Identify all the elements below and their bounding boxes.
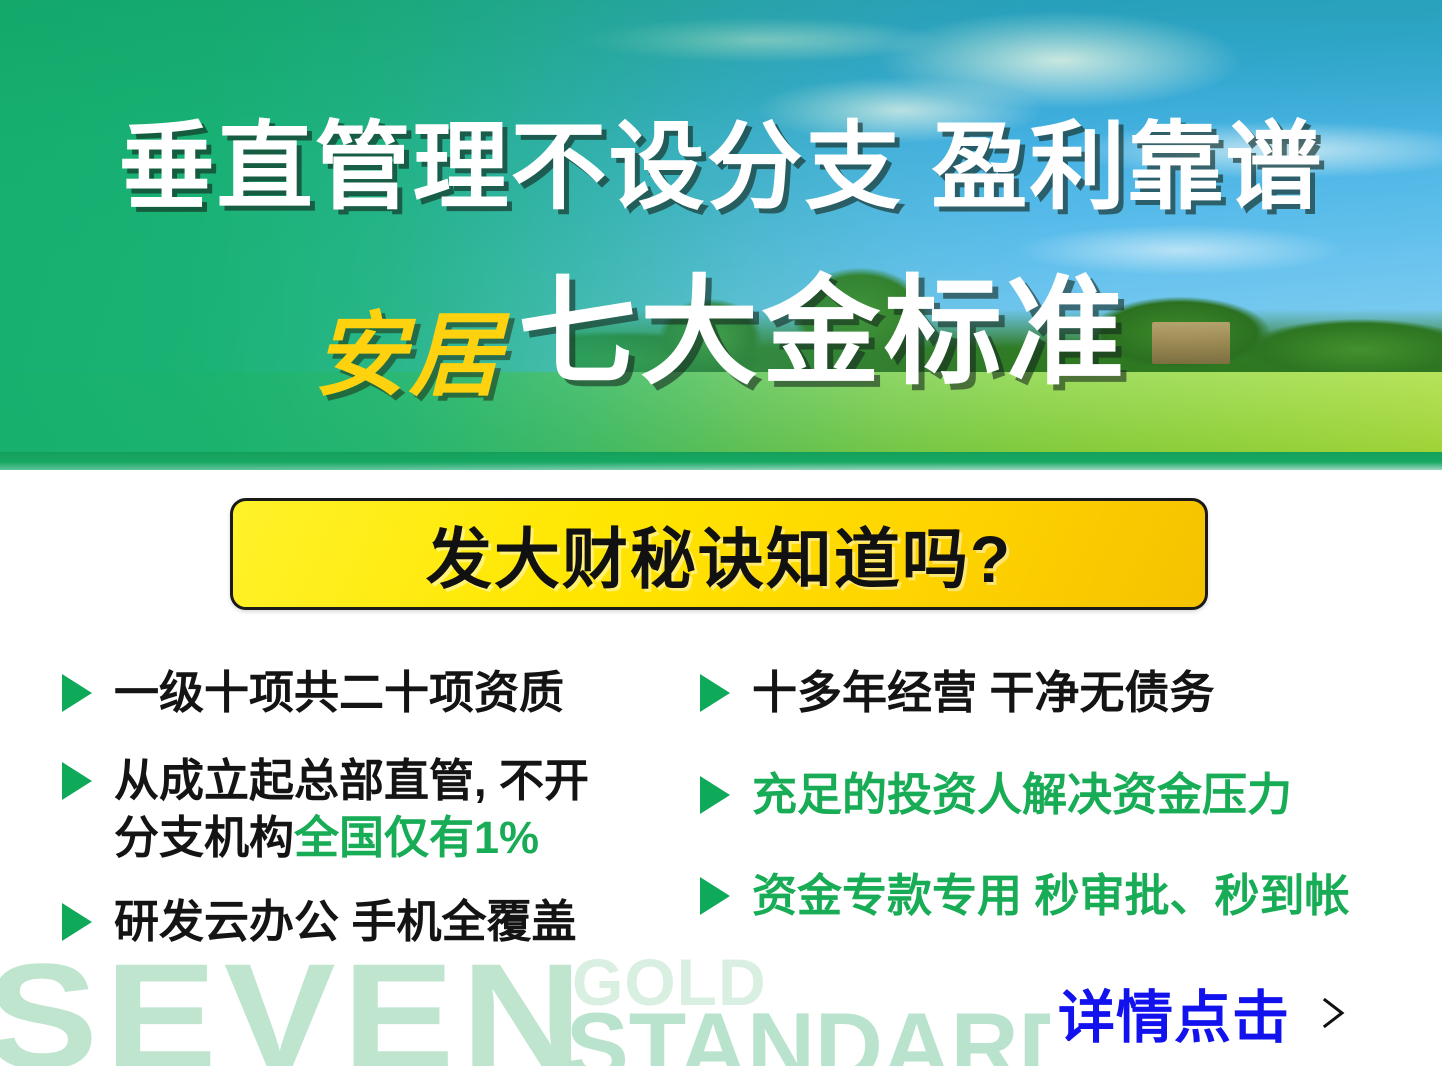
- feature-list: 一级十项共二十项资质 从成立起总部直管, 不开 分支机构全国仅有1% 研发云办公…: [0, 660, 1442, 990]
- details-cta-link[interactable]: 详情点击: [1058, 972, 1350, 1054]
- triangle-bullet-icon: [700, 776, 730, 814]
- details-cta-label[interactable]: 详情点击: [1058, 972, 1290, 1054]
- green-divider-strip: [0, 452, 1442, 470]
- feature-item-left-2-line1: 从成立起总部直管, 不开: [114, 755, 589, 806]
- feature-item-left-2-text: 从成立起总部直管, 不开 分支机构全国仅有1%: [114, 752, 589, 867]
- feature-item-left-1-text: 一级十项共二十项资质: [114, 664, 564, 722]
- triangle-bullet-icon: [700, 674, 730, 712]
- triangle-bullet-icon: [700, 877, 730, 915]
- promo-banner: 垂直管理不设分支 盈利靠谱 安居七大金标准 发大财秘诀知道吗? SEVEN GO…: [0, 0, 1442, 1066]
- triangle-bullet-icon: [62, 674, 92, 712]
- feature-item-right-3-text: 资金专款专用 秒审批、秒到帐: [752, 867, 1350, 925]
- feature-item-left-3-text: 研发云办公 手机全覆盖: [114, 893, 577, 951]
- watermark-standards-text: STANDARDS: [566, 999, 1050, 1066]
- chevron-right-icon[interactable]: [1316, 996, 1350, 1030]
- feature-item-right-3: 资金专款专用 秒审批、秒到帐: [700, 867, 1420, 925]
- feature-item-left-1: 一级十项共二十项资质: [62, 664, 702, 722]
- highlight-banner: 发大财秘诀知道吗?: [230, 498, 1208, 610]
- highlight-banner-text: 发大财秘诀知道吗?: [426, 506, 1012, 602]
- feature-item-right-2: 充足的投资人解决资金压力: [700, 766, 1420, 824]
- triangle-bullet-icon: [62, 762, 92, 800]
- feature-item-right-1: 十多年经营 干净无债务: [700, 664, 1420, 722]
- feature-item-right-2-text: 充足的投资人解决资金压力: [752, 766, 1292, 824]
- feature-item-left-2-highlight: 全国仅有1%: [294, 812, 539, 863]
- feature-column-right: 十多年经营 干净无债务 充足的投资人解决资金压力 资金专款专用 秒审批、秒到帐: [700, 660, 1420, 951]
- feature-item-left-2: 从成立起总部直管, 不开 分支机构全国仅有1%: [62, 752, 702, 867]
- brand-name-text: 安居: [314, 310, 504, 402]
- feature-column-left: 一级十项共二十项资质 从成立起总部直管, 不开 分支机构全国仅有1% 研发云办公…: [62, 660, 702, 976]
- hero-headline-secondary-text: 七大金标准: [518, 274, 1128, 392]
- green-top-overlay: [0, 0, 1442, 470]
- feature-item-left-3: 研发云办公 手机全覆盖: [62, 893, 702, 951]
- hero-section: 垂直管理不设分支 盈利靠谱 安居七大金标准: [0, 0, 1442, 470]
- hero-headline-secondary: 安居七大金标准: [0, 274, 1442, 392]
- feature-item-right-1-text: 十多年经营 干净无债务: [752, 664, 1215, 722]
- feature-item-left-2-line2-plain: 分支机构: [114, 812, 294, 863]
- triangle-bullet-icon: [62, 903, 92, 941]
- hero-headline-primary: 垂直管理不设分支 盈利靠谱: [0, 118, 1442, 219]
